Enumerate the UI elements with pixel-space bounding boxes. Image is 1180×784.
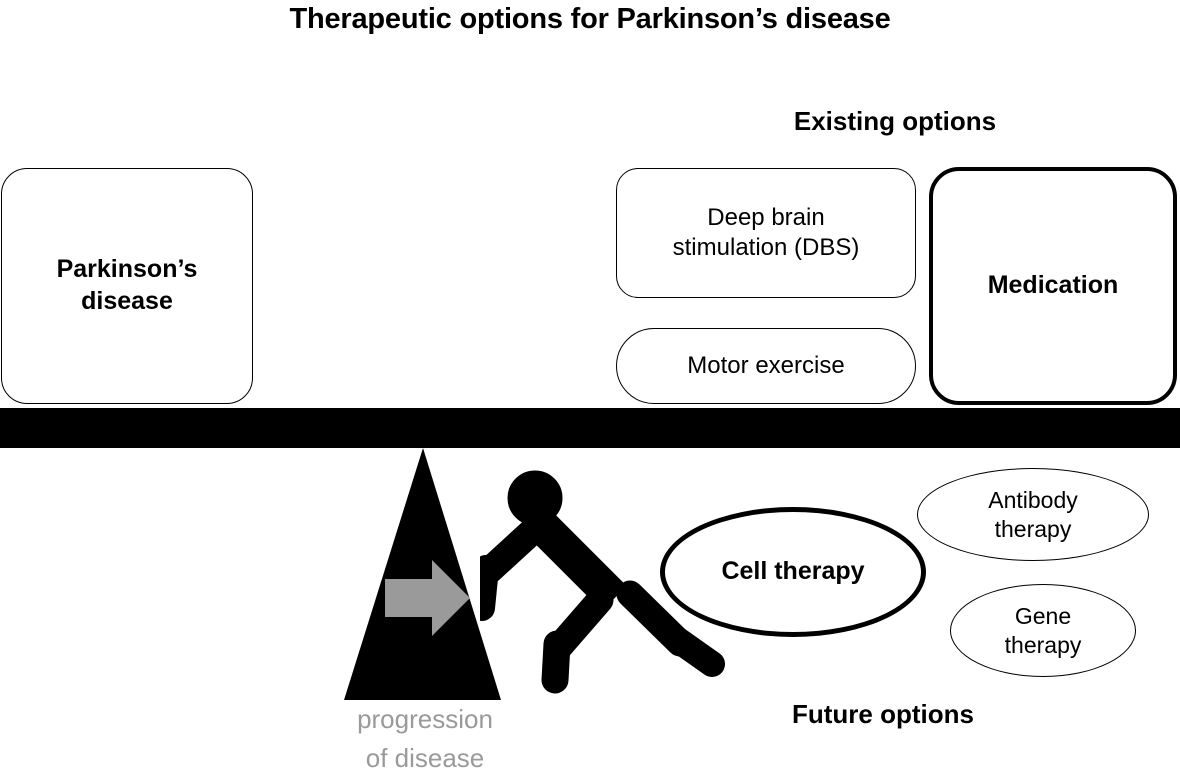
deep-brain-stimulation-label: Deep brainstimulation (DBS) <box>673 203 860 264</box>
deep-brain-stimulation-box[interactable]: Deep brainstimulation (DBS) <box>616 168 916 298</box>
existing-options-heading: Existing options <box>760 105 1030 137</box>
antibody-therapy-label: Antibodytherapy <box>988 486 1078 544</box>
page-title: Therapeutic options for Parkinson’s dise… <box>0 0 1180 37</box>
cell-therapy-label: Cell therapy <box>721 556 864 587</box>
medication-box[interactable]: Medication <box>929 167 1177 405</box>
gene-therapy-ellipse[interactable]: Genetherapy <box>950 584 1136 677</box>
black-beam-divider <box>0 408 1180 448</box>
parkinsons-disease-box[interactable]: Parkinson’sdisease <box>1 168 253 404</box>
future-options-heading: Future options <box>747 698 1019 730</box>
diagram-canvas: Therapeutic options for Parkinson’s dise… <box>0 0 1180 784</box>
parkinsons-disease-label: Parkinson’sdisease <box>57 254 198 318</box>
cell-therapy-ellipse[interactable]: Cell therapy <box>660 507 926 637</box>
motor-exercise-label: Motor exercise <box>687 351 844 381</box>
medication-label: Medication <box>988 270 1119 302</box>
gene-therapy-label: Genetherapy <box>1005 602 1082 660</box>
antibody-therapy-ellipse[interactable]: Antibodytherapy <box>917 468 1149 561</box>
motor-exercise-box[interactable]: Motor exercise <box>616 328 916 404</box>
progression-of-disease-caption: progressionof disease <box>300 700 550 778</box>
